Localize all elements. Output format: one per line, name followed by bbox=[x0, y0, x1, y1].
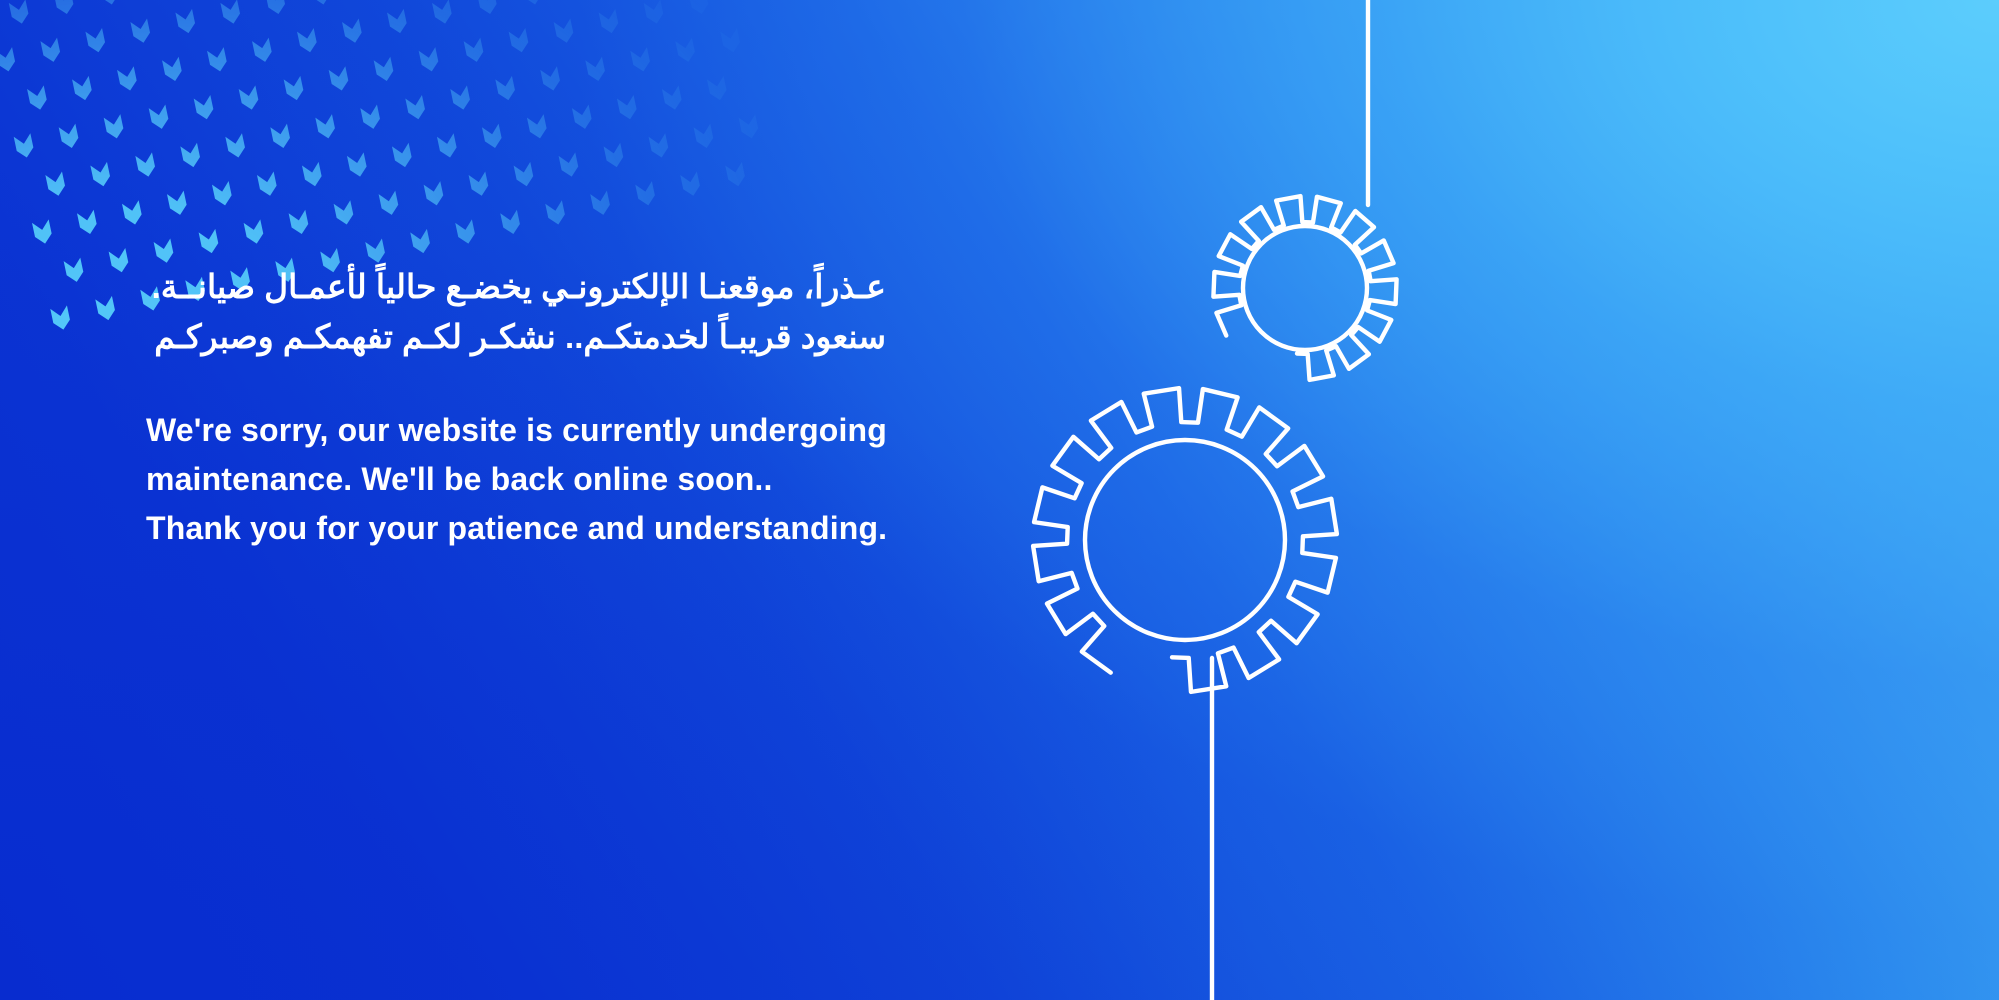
arabic-message-line-2: سنعود قريبـاً لخدمتكـم.. نشكـر لكـم تفهم… bbox=[146, 312, 886, 362]
maintenance-page: عـذراً، موقعنـا الإلكترونـي يخضـع حالياً… bbox=[0, 0, 1999, 1000]
maintenance-message: عـذراً، موقعنـا الإلكترونـي يخضـع حالياً… bbox=[146, 262, 1146, 552]
english-message-line-2: maintenance. We'll be back online soon.. bbox=[146, 455, 1146, 504]
english-message: We're sorry, our website is currently un… bbox=[146, 406, 1146, 552]
english-message-line-3: Thank you for your patience and understa… bbox=[146, 504, 1146, 553]
arabic-message: عـذراً، موقعنـا الإلكترونـي يخضـع حالياً… bbox=[146, 262, 886, 362]
arabic-message-line-1: عـذراً، موقعنـا الإلكترونـي يخضـع حالياً… bbox=[146, 262, 886, 312]
english-message-line-1: We're sorry, our website is currently un… bbox=[146, 406, 1146, 455]
